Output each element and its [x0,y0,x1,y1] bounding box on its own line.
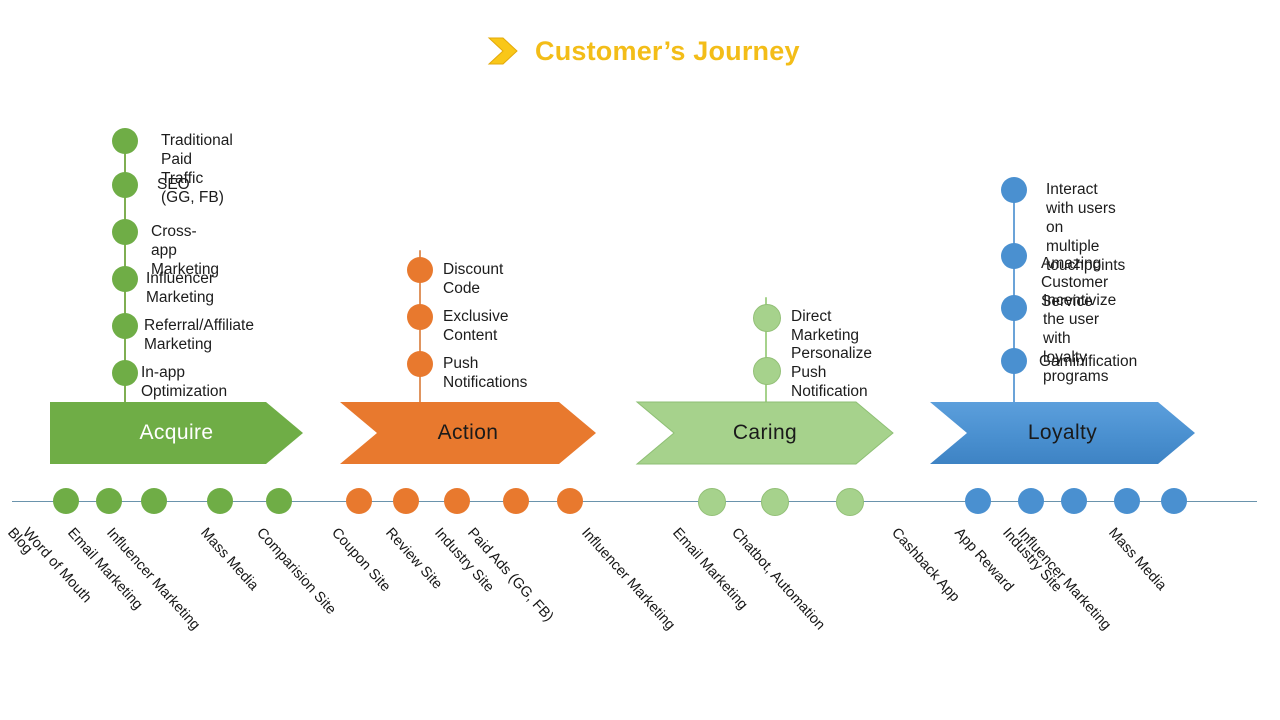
timeline-dot-influencer-marketing[interactable] [207,488,233,514]
action-bullet-dot [407,304,433,330]
caring-bullet-dot [753,357,781,385]
loyalty-bullet-dot [1001,295,1027,321]
timeline-dot-industry-site[interactable] [503,488,529,514]
customer-journey-diagram: Customer’s Journey Traditional Paid Traf… [0,0,1280,720]
acquire-bullet-dot [112,266,138,292]
timeline-dot-comparision-site[interactable] [346,488,372,514]
timeline-label-loyalty-influencer-marketing: Influencer Marketing [1014,525,1114,633]
timeline-dot-paid-ads[interactable] [557,488,583,514]
acquire-bullet-dot [112,360,138,386]
acquire-bullet-dot [112,128,138,154]
acquire-bullet-label: In-app Optimization [141,363,227,401]
caring-bullet-dot [753,304,781,332]
acquire-bullet-label: Traditional Paid Traffic (GG, FB) [161,131,233,207]
timeline-label-caring-influencer-marketing: Influencer Marketing [578,525,678,633]
acquire-bullet-dot [112,172,138,198]
action-bullet-label: Discount Code [443,260,503,298]
action-bullet-dot [407,351,433,377]
stage-banner-acquire[interactable]: Acquire [50,402,303,464]
timeline-dot-word-of-mouth[interactable] [96,488,122,514]
timeline-label-mass-media: Mass Media [197,525,261,594]
chevron-right-icon [487,34,521,68]
timeline-dot-loyalty-mass-media[interactable] [1161,488,1187,514]
acquire-bullet-label: Referral/Affiliate Marketing [144,316,254,354]
timeline-dot-app-reward[interactable] [1018,488,1044,514]
page-title: Customer’s Journey [487,34,800,68]
timeline-dot-mass-media[interactable] [266,488,292,514]
timeline-dot-review-site[interactable] [444,488,470,514]
timeline-dot-caring-email-marketing[interactable] [761,488,789,516]
loyalty-bullet-dot [1001,243,1027,269]
timeline-dot-loyalty-influencer-marketing[interactable] [1114,488,1140,514]
page-title-text: Customer’s Journey [535,36,800,67]
timeline-label-chatbot-automation: Chatbot, Automation [728,525,828,633]
action-bullet-dot [407,257,433,283]
loyalty-bullet-label: Incentivize the user with loyalty progra… [1043,291,1116,386]
timeline-dot-caring-influencer-marketing[interactable] [698,488,726,516]
action-bullet-label: Push Notifications [443,354,527,392]
timeline-label-loyalty-mass-media: Mass Media [1105,525,1169,594]
timeline-dot-coupon-site[interactable] [393,488,419,514]
caring-bullet-label: Direct Marketing [791,307,859,345]
acquire-bullet-label: Influencer Marketing [146,269,214,307]
acquire-bullet-dot [112,219,138,245]
timeline-dot-email-marketing[interactable] [141,488,167,514]
caring-bullet-label: Personalize Push Notification [791,344,872,401]
acquire-bullet-dot [112,313,138,339]
stage-banner-action[interactable]: Action [340,402,596,464]
loyalty-bullet-dot [1001,177,1027,203]
action-bullet-label: Exclusive Content [443,307,508,345]
timeline-dot-cashback-app[interactable] [965,488,991,514]
acquire-bullet-label: SEO [157,175,190,194]
loyalty-bullet-dot [1001,348,1027,374]
stage-banner-loyalty[interactable]: Loyalty [930,402,1195,464]
timeline-dot-chatbot-automation[interactable] [836,488,864,516]
stage-banner-caring[interactable]: Caring [637,402,893,464]
timeline-dot-loyalty-industry-site[interactable] [1061,488,1087,514]
timeline-dot-blog[interactable] [53,488,79,514]
loyalty-bullet-label: Gaminification [1039,352,1137,371]
timeline-label-comparision-site: Comparision Site [253,525,339,618]
